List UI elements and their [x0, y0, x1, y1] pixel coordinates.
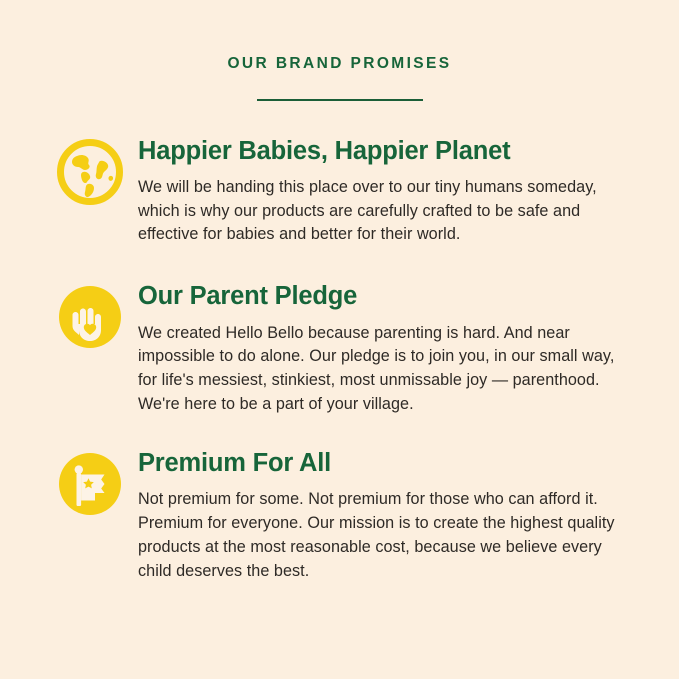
promise-text: Not premium for some. Not premium for th…	[138, 488, 624, 584]
promise-item: Our Parent Pledge We created Hello Bello…	[57, 282, 624, 417]
promise-text: We created Hello Bello because parenting…	[138, 322, 624, 418]
page-header: OUR BRAND PROMISES	[0, 0, 679, 101]
flag-star-icon	[57, 451, 123, 517]
brand-promises-page: OUR BRAND PROMISES	[0, 0, 679, 679]
page-title: OUR BRAND PROMISES	[0, 56, 679, 72]
promise-list: Happier Babies, Happier Planet We will b…	[0, 137, 679, 585]
promise-content: Premium For All Not premium for some. No…	[138, 449, 624, 584]
promise-title: Happier Babies, Happier Planet	[138, 137, 624, 165]
promise-item: Premium For All Not premium for some. No…	[57, 449, 624, 584]
promise-title: Our Parent Pledge	[138, 282, 624, 310]
hand-heart-icon	[57, 284, 123, 350]
promise-content: Happier Babies, Happier Planet We will b…	[138, 137, 624, 248]
title-divider	[257, 99, 423, 101]
promise-item: Happier Babies, Happier Planet We will b…	[57, 137, 624, 248]
globe-icon	[57, 139, 123, 205]
promise-text: We will be handing this place over to ou…	[138, 176, 624, 248]
promise-content: Our Parent Pledge We created Hello Bello…	[138, 282, 624, 417]
promise-title: Premium For All	[138, 449, 624, 477]
